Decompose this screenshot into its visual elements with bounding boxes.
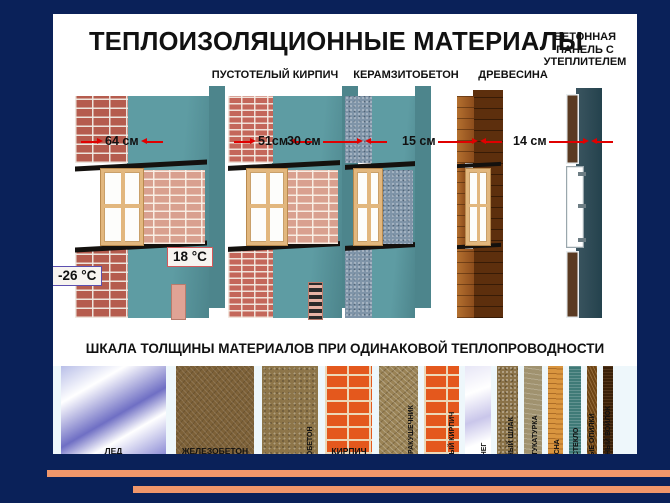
material-scale-strip: ЛЕД ЖЕЛЕЗОБЕТОН ШЛАКОБЕТОН КИРПИЧ ИЗВЕСТ…	[53, 366, 637, 454]
arrow-right-icon-3	[323, 138, 363, 145]
dimension-64cm-label: 64 см	[105, 134, 139, 148]
arrow-left-icon-4	[480, 138, 502, 145]
wall4-wood-upper	[457, 96, 474, 163]
scale-label-pine: СОСНА	[554, 439, 561, 454]
dimension-15cm: 15 см	[402, 134, 502, 148]
page-title: ТЕПЛОИЗОЛЯЦИОННЫЕ МАТЕРИАЛЫ	[89, 28, 583, 57]
scale-label-brick: КИРПИЧ	[317, 446, 381, 454]
wall-title-concrete-panel-line1: БЕТОННАЯ	[533, 31, 637, 44]
dimension-51cm-label: 51см	[258, 134, 288, 148]
arrow-right-icon-2	[234, 138, 256, 145]
scale-label-ice: ЛЕД	[61, 446, 166, 454]
scale-band-snow: СНЕГ	[465, 366, 491, 454]
scale-band-fuel-slag: ТОПЛИВНЫЙ ШЛАК	[497, 366, 518, 454]
scale-band-shell-limestone: ИЗВЕСТНЯК-РАКУШЕЧНИК	[379, 366, 418, 454]
scale-band-pine: СОСНА	[548, 366, 563, 454]
accent-bar-lower	[133, 486, 670, 493]
wall-wood	[457, 86, 517, 318]
wall-title-concrete-panel-line2: ПАНЕЛЬ С	[533, 44, 637, 57]
wall2-brick-upper	[228, 96, 273, 163]
wall5-window-detail-mid	[578, 204, 586, 208]
scale-band-construction-felt: СТРОИТЕЛЬНЫЙ ВОЙЛОК	[603, 366, 613, 454]
wall3-reveal	[379, 170, 413, 244]
wall3-keramzit-lower	[345, 249, 372, 318]
dimension-30cm: 30 см	[287, 134, 387, 148]
arrow-right-icon-4	[438, 138, 478, 145]
wall3-window-mullion-h	[357, 204, 379, 208]
wall-title-wood: ДРЕВЕСИНА	[453, 69, 573, 82]
arrow-left-icon-3	[365, 138, 387, 145]
status-badge-temp-outside: -26 °C	[53, 266, 102, 286]
scale-label-foam-glass: ПЕНОСТЕКЛО	[573, 428, 580, 454]
wall2-window-mullion-h	[250, 204, 284, 208]
scale-label-slag-concrete: ШЛАКОБЕТОН	[307, 426, 314, 454]
wall1-brick-sample	[171, 284, 186, 320]
wall-title-concrete-panel: БЕТОННАЯ ПАНЕЛЬ С УТЕПЛИТЕЛЕМ	[533, 31, 637, 69]
scale-section-title: ШКАЛА ТОЛЩИНЫ МАТЕРИАЛОВ ПРИ ОДИНАКОВОЙ …	[53, 341, 637, 356]
scale-label-sawdust: ДРЕВЕСНЫЕ ОПИЛКИ	[589, 413, 596, 454]
status-badge-temp-inside: 18 °C	[167, 247, 213, 267]
scale-band-slag-concrete: ШЛАКОБЕТОН	[262, 366, 318, 454]
wall-hollow-brick	[228, 86, 358, 318]
scale-label-construction-felt: СТРОИТЕЛЬНЫЙ ВОЙЛОК	[605, 406, 612, 454]
slide-root: ТЕПЛОИЗОЛЯЦИОННЫЕ МАТЕРИАЛЫ ПУСТОТЕЛЫЙ К…	[0, 0, 670, 503]
dimension-15cm-label: 15 см	[402, 134, 436, 148]
wall2-window-frame	[246, 168, 288, 246]
scale-label-fuel-slag: ТОПЛИВНЫЙ ШЛАК	[508, 417, 515, 454]
scale-label-dry-plaster: СУХАЯ ШТУКАТУРКА	[532, 415, 539, 454]
scale-band-sawdust: ДРЕВЕСНЫЕ ОПИЛКИ	[587, 366, 597, 454]
dimension-30cm-label: 30 см	[287, 134, 321, 148]
arrow-right-icon-5	[549, 138, 589, 145]
wall4-window-mullion-h	[469, 204, 487, 207]
wall-title-concrete-panel-line3: УТЕПЛИТЕЛЕМ	[533, 56, 637, 69]
wall1-window-mullion-h	[104, 204, 140, 208]
wall-concrete-panel	[566, 86, 610, 318]
scale-band-ice	[61, 366, 166, 454]
wall5-window-detail-bottom	[578, 238, 586, 242]
scale-band-brick	[325, 366, 372, 454]
wall2-brick-lower	[228, 249, 273, 318]
scale-band-hollow-brick: ПУСТОТЕЛЫЙ КИРПИЧ	[424, 366, 459, 454]
dimension-64cm: 64 см	[81, 134, 163, 148]
scale-band-dry-plaster: СУХАЯ ШТУКАТУРКА	[524, 366, 542, 454]
wall1-window-frame	[100, 168, 144, 246]
scale-label-snow: СНЕГ	[481, 443, 488, 454]
content-card: ТЕПЛОИЗОЛЯЦИОННЫЕ МАТЕРИАЛЫ ПУСТОТЕЛЫЙ К…	[53, 14, 637, 454]
wall3-window-frame	[353, 168, 383, 246]
wall1-side-face	[209, 86, 225, 308]
wall4-window-frame	[465, 168, 491, 246]
wall2-reveal-brick	[280, 170, 338, 244]
wall3-keramzit-upper	[345, 96, 372, 163]
dimension-14cm: 14 см	[513, 134, 613, 148]
scale-label-hollow-brick: ПУСТОТЕЛЫЙ КИРПИЧ	[449, 412, 456, 454]
arrow-right-icon-1	[81, 138, 103, 145]
wall5-window-detail-top	[578, 172, 586, 176]
wall3-side-face	[415, 86, 431, 308]
scale-band-reinforced-concrete	[176, 366, 254, 454]
wall1-reveal-brick	[137, 170, 205, 244]
wall5-insulation-upper	[566, 94, 579, 164]
accent-bar-upper	[47, 470, 670, 477]
wall1-brick-upper	[75, 96, 128, 163]
scale-band-foam-glass: ПЕНОСТЕКЛО	[569, 366, 581, 454]
wall4-window-mullion-v	[477, 172, 480, 242]
wall5-insulation-lower	[566, 251, 579, 318]
scale-label-reinforced-concrete: ЖЕЛЕЗОБЕТОН	[166, 446, 264, 454]
wall-keramzit	[345, 86, 431, 318]
scale-label-shell-limestone: ИЗВЕСТНЯК-РАКУШЕЧНИК	[408, 405, 415, 454]
dimension-14cm-label: 14 см	[513, 134, 547, 148]
wall4-wood-jamb	[457, 163, 465, 249]
wall2-brick-sample	[308, 282, 323, 320]
wall4-wood-lower	[457, 249, 474, 318]
arrow-left-icon-5	[591, 138, 613, 145]
arrow-left-icon-1	[141, 138, 163, 145]
